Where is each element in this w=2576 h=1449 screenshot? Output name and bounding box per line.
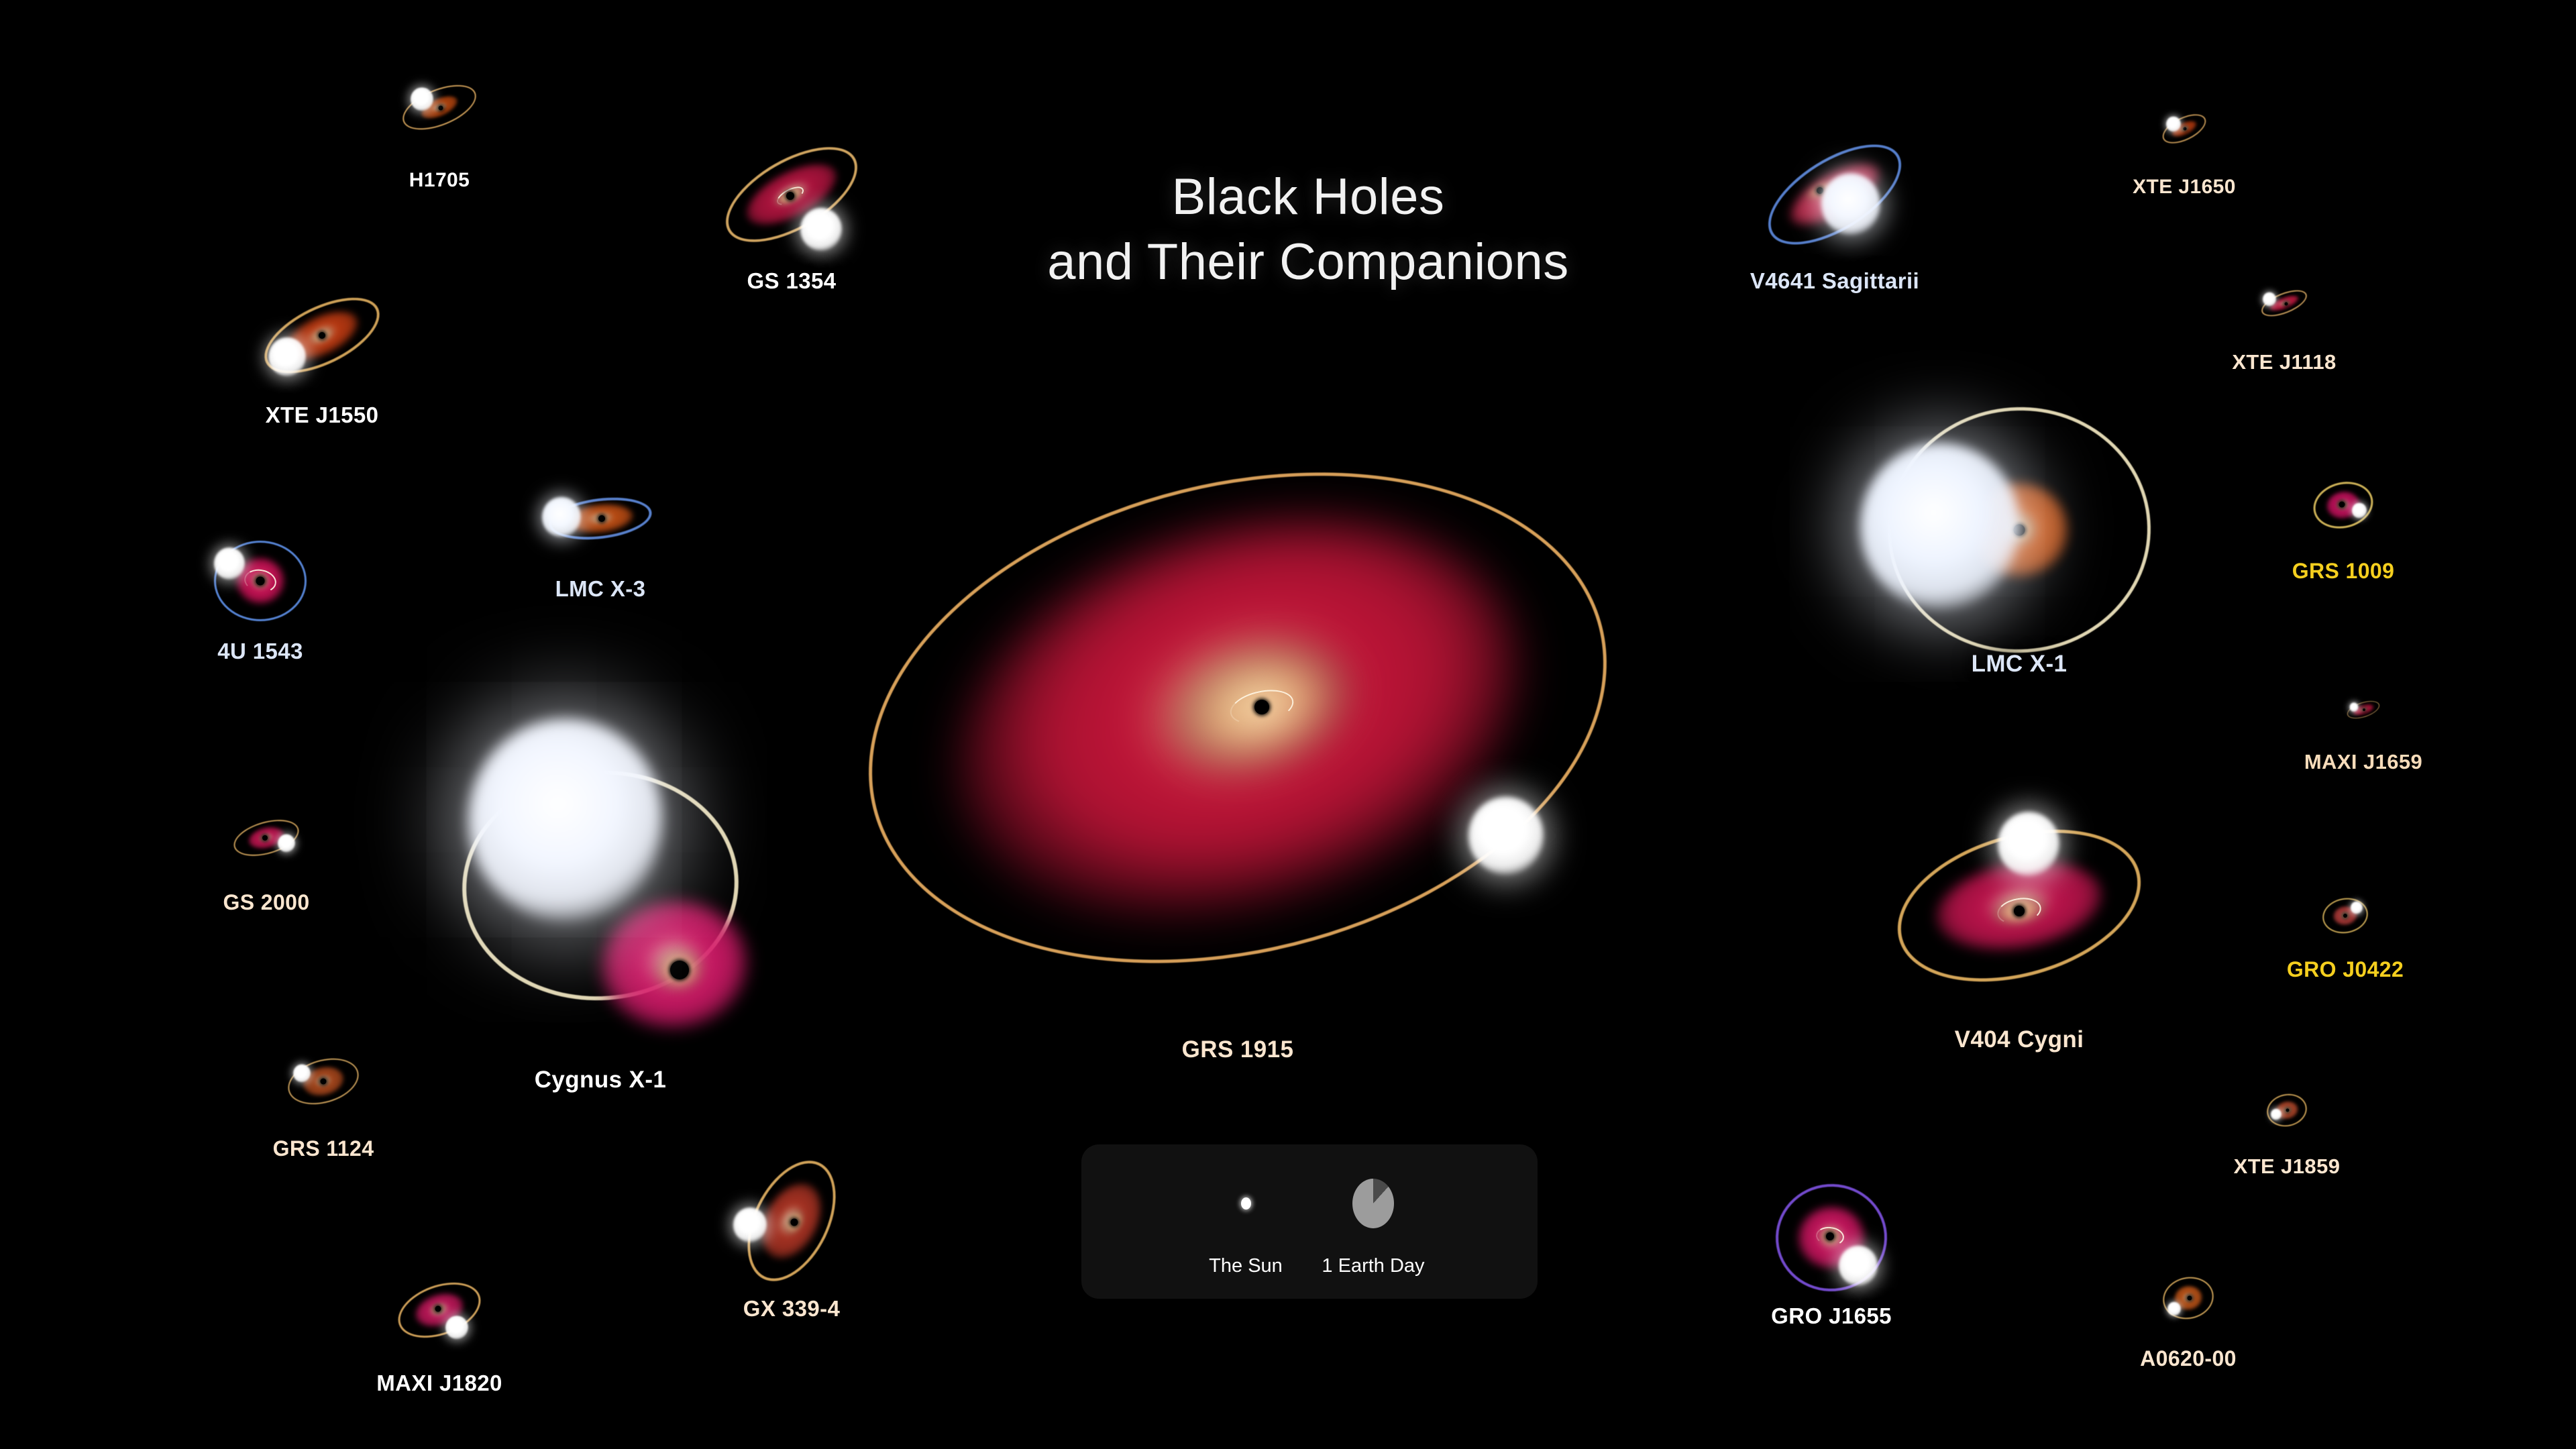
- system-graphic: [1878, 419, 2160, 641]
- companion-star: [2350, 702, 2359, 712]
- title-line-1: Black Holes: [1172, 168, 1445, 225]
- system-graphic: [226, 808, 307, 868]
- companion-star: [293, 1064, 311, 1082]
- companion-star: [1468, 797, 1544, 875]
- system-label: GRS 1124: [273, 1136, 374, 1161]
- legend-item-one-earth-day: 1 Earth Day: [1309, 1167, 1437, 1277]
- system-graphic: [1748, 131, 1922, 258]
- binary-system[interactable]: XTE J1118: [2254, 280, 2314, 327]
- binary-system[interactable]: GS 1354: [714, 138, 869, 252]
- companion-star: [2352, 503, 2367, 519]
- binary-system[interactable]: LMC X-1: [1878, 419, 2160, 641]
- system-graphic: [203, 534, 317, 628]
- title-line-2: and Their Companions: [1033, 229, 1583, 294]
- black-hole: [598, 515, 605, 522]
- legend-caption-the-sun: The Sun: [1209, 1255, 1283, 1277]
- scale-legend: The Sun 1 Earth Day: [1081, 1144, 1538, 1299]
- companion-star: [1839, 1246, 1878, 1286]
- binary-system[interactable]: GRS 1009: [2306, 475, 2380, 535]
- companion-star: [1998, 812, 2059, 876]
- black-hole: [262, 835, 268, 841]
- companion-star: [445, 1316, 468, 1339]
- system-graphic: [714, 138, 869, 252]
- system-label: GS 2000: [223, 890, 309, 915]
- black-hole: [1817, 187, 1823, 194]
- system-label: GRS 1009: [2292, 559, 2395, 584]
- system-graphic: [718, 1161, 865, 1281]
- companion-star: [468, 718, 663, 921]
- black-hole: [2014, 906, 2025, 916]
- system-graphic: [2260, 1087, 2314, 1134]
- companion-star: [278, 834, 295, 852]
- companion-star: [542, 497, 581, 537]
- system-label: GRO J0422: [2287, 957, 2404, 982]
- system-graphic: [389, 1270, 490, 1350]
- day-pie-icon: [1352, 1167, 1394, 1240]
- system-label: H1705: [409, 169, 470, 192]
- companion-star: [2271, 1109, 2282, 1120]
- sun-dot-icon: [1241, 1167, 1251, 1240]
- black-hole: [321, 1079, 327, 1085]
- system-label: Cygnus X-1: [535, 1067, 667, 1093]
- companion-star: [733, 1207, 767, 1242]
- system-graphic: [2340, 690, 2387, 730]
- black-hole: [256, 577, 265, 586]
- system-graphic: [2155, 1271, 2222, 1325]
- system-graphic: [255, 285, 389, 386]
- binary-system[interactable]: V4641 Sagittarii: [1748, 131, 1922, 258]
- binary-system[interactable]: GRS 1124: [280, 1048, 367, 1115]
- system-graphic: [1885, 795, 2153, 1016]
- page-title: Black Holes and Their Companions: [1033, 164, 1583, 295]
- binary-system[interactable]: XTE J1859: [2260, 1087, 2314, 1134]
- binary-system[interactable]: XTE J1550: [255, 285, 389, 386]
- legend-item-the-sun: The Sun: [1182, 1167, 1309, 1277]
- binary-system[interactable]: XTE J1650: [2157, 105, 2211, 152]
- black-hole: [1826, 1232, 1834, 1240]
- system-graphic: [439, 728, 761, 1043]
- system-label: GRS 1915: [1182, 1036, 1294, 1063]
- system-graphic: [537, 475, 664, 562]
- system-graphic: [399, 77, 480, 138]
- black-hole: [670, 961, 689, 979]
- black-hole: [435, 1306, 441, 1312]
- system-graphic: [842, 443, 1633, 993]
- system-label: XTE J1550: [266, 402, 379, 428]
- system-label: XTE J1650: [2133, 176, 2236, 199]
- system-graphic: [2306, 475, 2380, 535]
- binary-system[interactable]: GS 2000: [226, 808, 307, 868]
- system-label: MAXI J1820: [376, 1371, 502, 1396]
- black-hole: [2286, 1109, 2290, 1112]
- system-label: V4641 Sagittarii: [1750, 268, 1919, 294]
- black-hole: [1254, 700, 1269, 714]
- binary-system[interactable]: A0620-00: [2155, 1271, 2222, 1325]
- binary-system[interactable]: GRO J0422: [2315, 892, 2375, 939]
- system-graphic: [2315, 892, 2375, 939]
- binary-system[interactable]: GRO J1655: [1764, 1181, 1898, 1295]
- binary-system[interactable]: GRS 1915: [842, 443, 1633, 993]
- companion-star: [1821, 173, 1880, 235]
- system-graphic: [1764, 1181, 1898, 1295]
- companion-star: [2167, 1302, 2181, 1316]
- companion-star: [214, 547, 245, 580]
- black-hole: [2184, 127, 2187, 131]
- system-label: XTE J1859: [2234, 1155, 2341, 1179]
- binary-system[interactable]: H1705: [399, 77, 480, 138]
- system-label: V404 Cygni: [1955, 1026, 2084, 1053]
- system-label: XTE J1118: [2232, 350, 2336, 374]
- black-hole: [2339, 502, 2345, 508]
- binary-system[interactable]: V404 Cygni: [1885, 795, 2153, 1016]
- companion-star: [411, 87, 433, 111]
- binary-system[interactable]: Cygnus X-1: [439, 728, 761, 1043]
- system-label: MAXI J1659: [2304, 750, 2422, 774]
- black-hole: [439, 106, 443, 111]
- system-label: LMC X-1: [1972, 651, 2068, 678]
- legend-caption-one-earth-day: 1 Earth Day: [1322, 1255, 1424, 1277]
- black-hole: [319, 332, 325, 339]
- system-graphic: [280, 1048, 367, 1115]
- binary-system[interactable]: 4U 1543: [203, 534, 317, 628]
- black-hole: [2343, 914, 2347, 918]
- system-label: A0620-00: [2140, 1346, 2237, 1371]
- system-label: GX 339-4: [743, 1296, 840, 1322]
- system-graphic: [2157, 105, 2211, 152]
- companion-star: [2263, 292, 2276, 307]
- companion-star: [2166, 117, 2181, 132]
- system-label: 4U 1543: [217, 639, 303, 664]
- black-hole: [786, 192, 794, 200]
- sky-canvas: Black Holes and Their Companions H1705GS…: [0, 0, 2576, 1449]
- companion-star: [2351, 902, 2363, 914]
- system-label: GRO J1655: [1771, 1303, 1892, 1329]
- system-graphic: [2254, 280, 2314, 327]
- binary-system[interactable]: GX 339-4: [718, 1161, 865, 1281]
- companion-star: [1860, 443, 2020, 609]
- black-hole: [2285, 303, 2288, 306]
- black-hole: [2363, 708, 2365, 711]
- system-label: GS 1354: [747, 268, 836, 294]
- companion-star: [268, 337, 306, 376]
- binary-system[interactable]: MAXI J1659: [2340, 690, 2387, 730]
- black-hole: [791, 1219, 798, 1226]
- system-label: LMC X-3: [555, 576, 646, 602]
- binary-system[interactable]: MAXI J1820: [389, 1270, 490, 1350]
- black-hole: [2188, 1296, 2192, 1301]
- binary-system[interactable]: LMC X-3: [537, 475, 664, 562]
- companion-star: [800, 208, 842, 251]
